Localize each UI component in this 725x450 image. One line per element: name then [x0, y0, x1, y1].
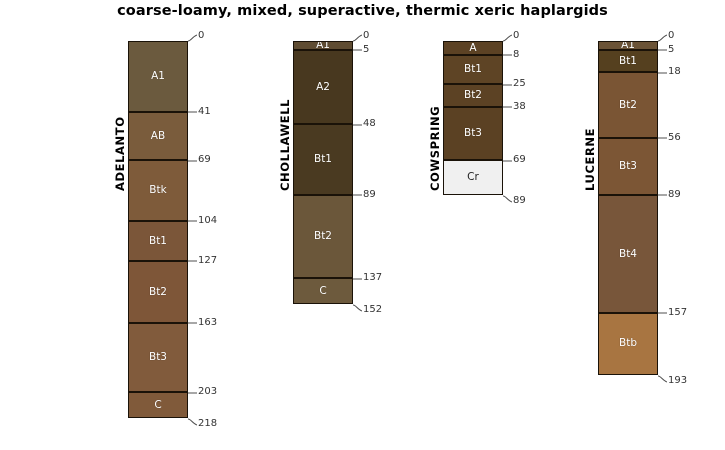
horizon-label: Bt3 [464, 128, 482, 139]
horizon-a[interactable]: A [443, 41, 503, 55]
depth-axis-label: 69 [513, 155, 526, 165]
depth-axis-label: 89 [363, 190, 376, 200]
depth-tick [503, 55, 512, 63]
depth-tick [188, 160, 197, 168]
depth-axis-label: 127 [198, 256, 217, 266]
horizon-a2[interactable]: A2 [293, 50, 353, 124]
depth-tick [353, 278, 362, 286]
horizon-c[interactable]: C [128, 392, 188, 418]
depth-axis-label: 0 [198, 31, 204, 41]
horizon-column: A1A2Bt1Bt2C [293, 41, 353, 304]
depth-tick [658, 138, 667, 146]
depth-tick [658, 50, 667, 58]
depth-axis-label: 193 [668, 376, 687, 386]
depth-tick [353, 304, 362, 312]
depth-axis-label: 5 [668, 45, 674, 55]
depth-tick [658, 41, 667, 49]
horizon-bt2[interactable]: Bt2 [598, 72, 658, 138]
depth-axis-label: 0 [513, 31, 519, 41]
horizon-bt2[interactable]: Bt2 [293, 195, 353, 278]
horizon-label: Btb [619, 338, 637, 349]
horizon-ab[interactable]: AB [128, 112, 188, 160]
depth-tick [188, 221, 197, 229]
depth-axis-label: 0 [363, 31, 369, 41]
horizon-label: Bt4 [619, 249, 637, 260]
depth-tick [353, 50, 362, 58]
horizon-label: Bt1 [464, 64, 482, 75]
horizon-column: A1ABBtkBt1Bt2Bt3C [128, 41, 188, 418]
page-title: coarse-loamy, mixed, superactive, thermi… [0, 3, 725, 19]
depth-axis-label: 41 [198, 107, 211, 117]
horizon-label: A2 [316, 82, 330, 93]
horizon-cr[interactable]: Cr [443, 160, 503, 195]
horizon-label: A [469, 43, 476, 54]
profile-name-label: COWSPRING [428, 41, 442, 191]
depth-tick [658, 195, 667, 203]
depth-axis-label: 0 [668, 31, 674, 41]
horizon-a1[interactable]: A1 [293, 41, 353, 50]
horizon-label: AB [151, 131, 165, 142]
depth-axis-label: 8 [513, 50, 519, 60]
depth-tick [503, 84, 512, 92]
depth-axis-label: 104 [198, 216, 217, 226]
profile-name-label: ADELANTO [113, 41, 127, 191]
horizon-bt4[interactable]: Bt4 [598, 195, 658, 313]
horizon-label: Bt2 [314, 231, 332, 242]
depth-tick [353, 195, 362, 203]
depth-axis-label: 25 [513, 79, 526, 89]
depth-axis-label: 48 [363, 119, 376, 129]
depth-tick [353, 41, 362, 49]
horizon-c[interactable]: C [293, 278, 353, 304]
depth-axis-label: 18 [668, 67, 681, 77]
horizon-label: Bt1 [149, 236, 167, 247]
horizon-label: A1 [621, 41, 635, 50]
horizon-bt1[interactable]: Bt1 [443, 55, 503, 84]
horizon-label: Bt2 [149, 287, 167, 298]
horizon-bt3[interactable]: Bt3 [128, 323, 188, 392]
depth-tick [188, 323, 197, 331]
horizon-bt1[interactable]: Bt1 [293, 124, 353, 195]
horizon-bt3[interactable]: Bt3 [598, 138, 658, 195]
horizon-bt1[interactable]: Bt1 [128, 221, 188, 261]
horizon-label: Bt2 [619, 100, 637, 111]
horizon-bt3[interactable]: Bt3 [443, 107, 503, 161]
depth-tick [188, 261, 197, 269]
depth-axis-label: 203 [198, 387, 217, 397]
depth-tick [503, 107, 512, 115]
profile-name-label: CHOLLAWELL [278, 41, 292, 191]
depth-tick [188, 112, 197, 120]
horizon-btk[interactable]: Btk [128, 160, 188, 221]
depth-axis-label: 38 [513, 102, 526, 112]
depth-tick [503, 195, 512, 203]
horizon-a1[interactable]: A1 [598, 41, 658, 50]
horizon-label: Bt3 [619, 161, 637, 172]
depth-tick [658, 72, 667, 80]
horizon-label: Bt1 [619, 56, 637, 67]
depth-axis-label: 5 [363, 45, 369, 55]
depth-axis-label: 218 [198, 419, 217, 429]
horizon-label: C [319, 286, 326, 297]
depth-axis-label: 152 [363, 305, 382, 315]
depth-axis-label: 89 [513, 196, 526, 206]
horizon-label: Bt2 [464, 90, 482, 101]
depth-tick [188, 41, 197, 49]
depth-tick [188, 418, 197, 426]
horizon-label: Btk [149, 185, 166, 196]
horizon-column: A1Bt1Bt2Bt3Bt4Btb [598, 41, 658, 375]
horizon-btb[interactable]: Btb [598, 313, 658, 375]
depth-axis-label: 157 [668, 308, 687, 318]
horizon-label: Bt1 [314, 154, 332, 165]
horizon-label: A1 [316, 41, 330, 50]
horizon-label: Cr [467, 172, 479, 183]
horizon-label: C [154, 400, 161, 411]
depth-tick [503, 41, 512, 49]
depth-axis-label: 56 [668, 133, 681, 143]
depth-tick [503, 160, 512, 168]
depth-axis-label: 137 [363, 273, 382, 283]
depth-tick [353, 124, 362, 132]
depth-tick [188, 392, 197, 400]
depth-tick [658, 375, 667, 383]
horizon-column: ABt1Bt2Bt3Cr [443, 41, 503, 195]
depth-axis-label: 89 [668, 190, 681, 200]
depth-axis-label: 69 [198, 155, 211, 165]
horizon-bt1[interactable]: Bt1 [598, 50, 658, 72]
horizon-bt2[interactable]: Bt2 [128, 261, 188, 323]
horizon-bt2[interactable]: Bt2 [443, 84, 503, 106]
depth-tick [658, 313, 667, 321]
depth-axis-label: 163 [198, 318, 217, 328]
profile-name-label: LUCERNE [583, 41, 597, 191]
horizon-label: A1 [151, 71, 165, 82]
horizon-a1[interactable]: A1 [128, 41, 188, 112]
horizon-label: Bt3 [149, 352, 167, 363]
